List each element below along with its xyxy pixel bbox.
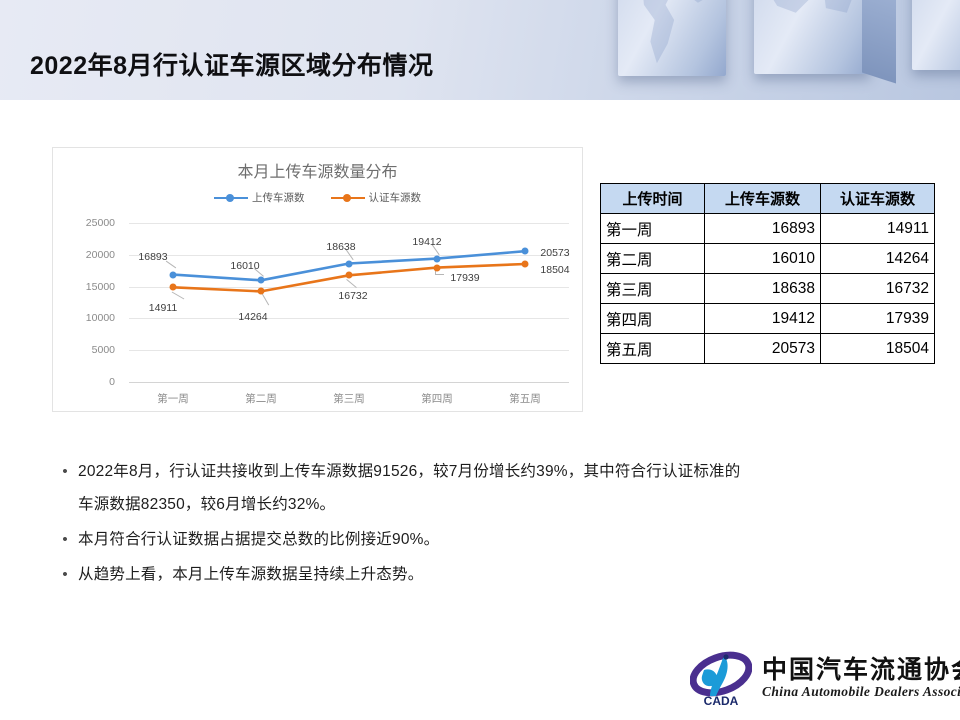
cell-certified: 14264: [821, 244, 935, 274]
data-label-certified-4: 17939: [450, 272, 479, 284]
cell-period: 第一周: [601, 214, 705, 244]
table-row: 第三周 18638 16732: [601, 274, 935, 304]
cube-decoration-1: [618, 0, 726, 76]
cell-period: 第四周: [601, 304, 705, 334]
data-table: 上传时间 上传车源数 认证车源数 第一周 16893 14911 第二周 160…: [600, 183, 935, 364]
cell-certified: 18504: [821, 334, 935, 364]
cell-certified: 14911: [821, 214, 935, 244]
bullet-marker-icon: •: [52, 558, 78, 591]
cada-logo-icon: CADA: [690, 650, 752, 708]
logo-abbr-text: CADA: [704, 694, 739, 708]
data-point-uploaded-1: [170, 271, 177, 278]
page-title: 2022年8月行认证车源区域分布情况: [30, 46, 434, 82]
header-decoration: [600, 0, 960, 100]
data-label-uploaded-4: 19412: [412, 236, 441, 248]
list-item: • 本月符合行认证数据占据提交总数的比例接近90%。: [52, 523, 932, 556]
world-map-icon: [618, 0, 726, 74]
data-point-certified-2: [258, 288, 265, 295]
data-label-certified-5: 18504: [540, 264, 569, 276]
data-label-uploaded-2: 16010: [230, 260, 259, 272]
cell-uploaded: 19412: [705, 304, 821, 334]
bullet-text-1-line-1: 2022年8月，行认证共接收到上传车源数据91526，较7月份增长约39%，其中…: [78, 455, 740, 488]
cube-decoration-2: [754, 0, 870, 74]
bullet-list: • 2022年8月，行认证共接收到上传车源数据91526，较7月份增长约39%，…: [52, 455, 932, 593]
cell-certified: 16732: [821, 274, 935, 304]
table-row: 第一周 16893 14911: [601, 214, 935, 244]
data-label-uploaded-3: 18638: [326, 241, 355, 253]
data-point-uploaded-3: [346, 260, 353, 267]
header-banner: 2022年8月行认证车源区域分布情况: [0, 0, 960, 100]
bullet-text-3: 从趋势上看，本月上传车源数据呈持续上升态势。: [78, 558, 423, 591]
data-point-certified-5: [522, 261, 529, 268]
data-point-certified-1: [170, 284, 177, 291]
footer-logo: CADA 中国汽车流通协会 China Automobile Dealers A…: [690, 648, 948, 710]
bullet-marker-icon: •: [52, 523, 78, 556]
cell-uploaded: 16010: [705, 244, 821, 274]
cube-decoration-3: [912, 0, 960, 70]
data-label-uploaded-5: 20573: [540, 247, 569, 259]
column-header-period: 上传时间: [601, 184, 705, 214]
column-header-certified: 认证车源数: [821, 184, 935, 214]
cell-uploaded: 16893: [705, 214, 821, 244]
table-row: 第四周 19412 17939: [601, 304, 935, 334]
bullet-text-1-line-2: 车源数据82350，较6月增长约32%。: [78, 488, 740, 521]
list-item: • 2022年8月，行认证共接收到上传车源数据91526，较7月份增长约39%，…: [52, 455, 932, 521]
table-row: 第五周 20573 18504: [601, 334, 935, 364]
data-label-certified-2: 14264: [238, 311, 267, 323]
cell-period: 第五周: [601, 334, 705, 364]
leader-line-17939: [435, 274, 444, 275]
data-label-certified-1: 14911: [149, 302, 177, 314]
cell-period: 第三周: [601, 274, 705, 304]
data-label-uploaded-1: 16893: [138, 251, 167, 263]
bullet-text-2: 本月符合行认证数据占据提交总数的比例接近90%。: [78, 523, 439, 556]
chart-card: 本月上传车源数量分布 上传车源数 认证车源数 25000 20000 15000…: [52, 147, 583, 412]
data-point-certified-4: [434, 264, 441, 271]
cell-uploaded: 18638: [705, 274, 821, 304]
data-point-uploaded-5: [522, 248, 529, 255]
chart-plot-area: 25000 20000 15000 10000 5000 0 第一周 第二周 第…: [53, 148, 584, 413]
data-point-uploaded-2: [258, 277, 265, 284]
list-item: • 从趋势上看，本月上传车源数据呈持续上升态势。: [52, 558, 932, 591]
logo-name-cn: 中国汽车流通协会: [762, 650, 960, 686]
data-point-certified-3: [346, 272, 353, 279]
series-lines: [53, 148, 584, 413]
table-header-row: 上传时间 上传车源数 认证车源数: [601, 184, 935, 214]
table-row: 第二周 16010 14264: [601, 244, 935, 274]
cell-uploaded: 20573: [705, 334, 821, 364]
bullet-marker-icon: •: [52, 455, 78, 488]
logo-name-en: China Automobile Dealers Association: [762, 684, 960, 700]
world-map-icon: [754, 0, 870, 94]
data-point-uploaded-4: [434, 255, 441, 262]
data-label-certified-3: 16732: [338, 290, 367, 302]
column-header-uploaded: 上传车源数: [705, 184, 821, 214]
cell-certified: 17939: [821, 304, 935, 334]
cell-period: 第二周: [601, 244, 705, 274]
